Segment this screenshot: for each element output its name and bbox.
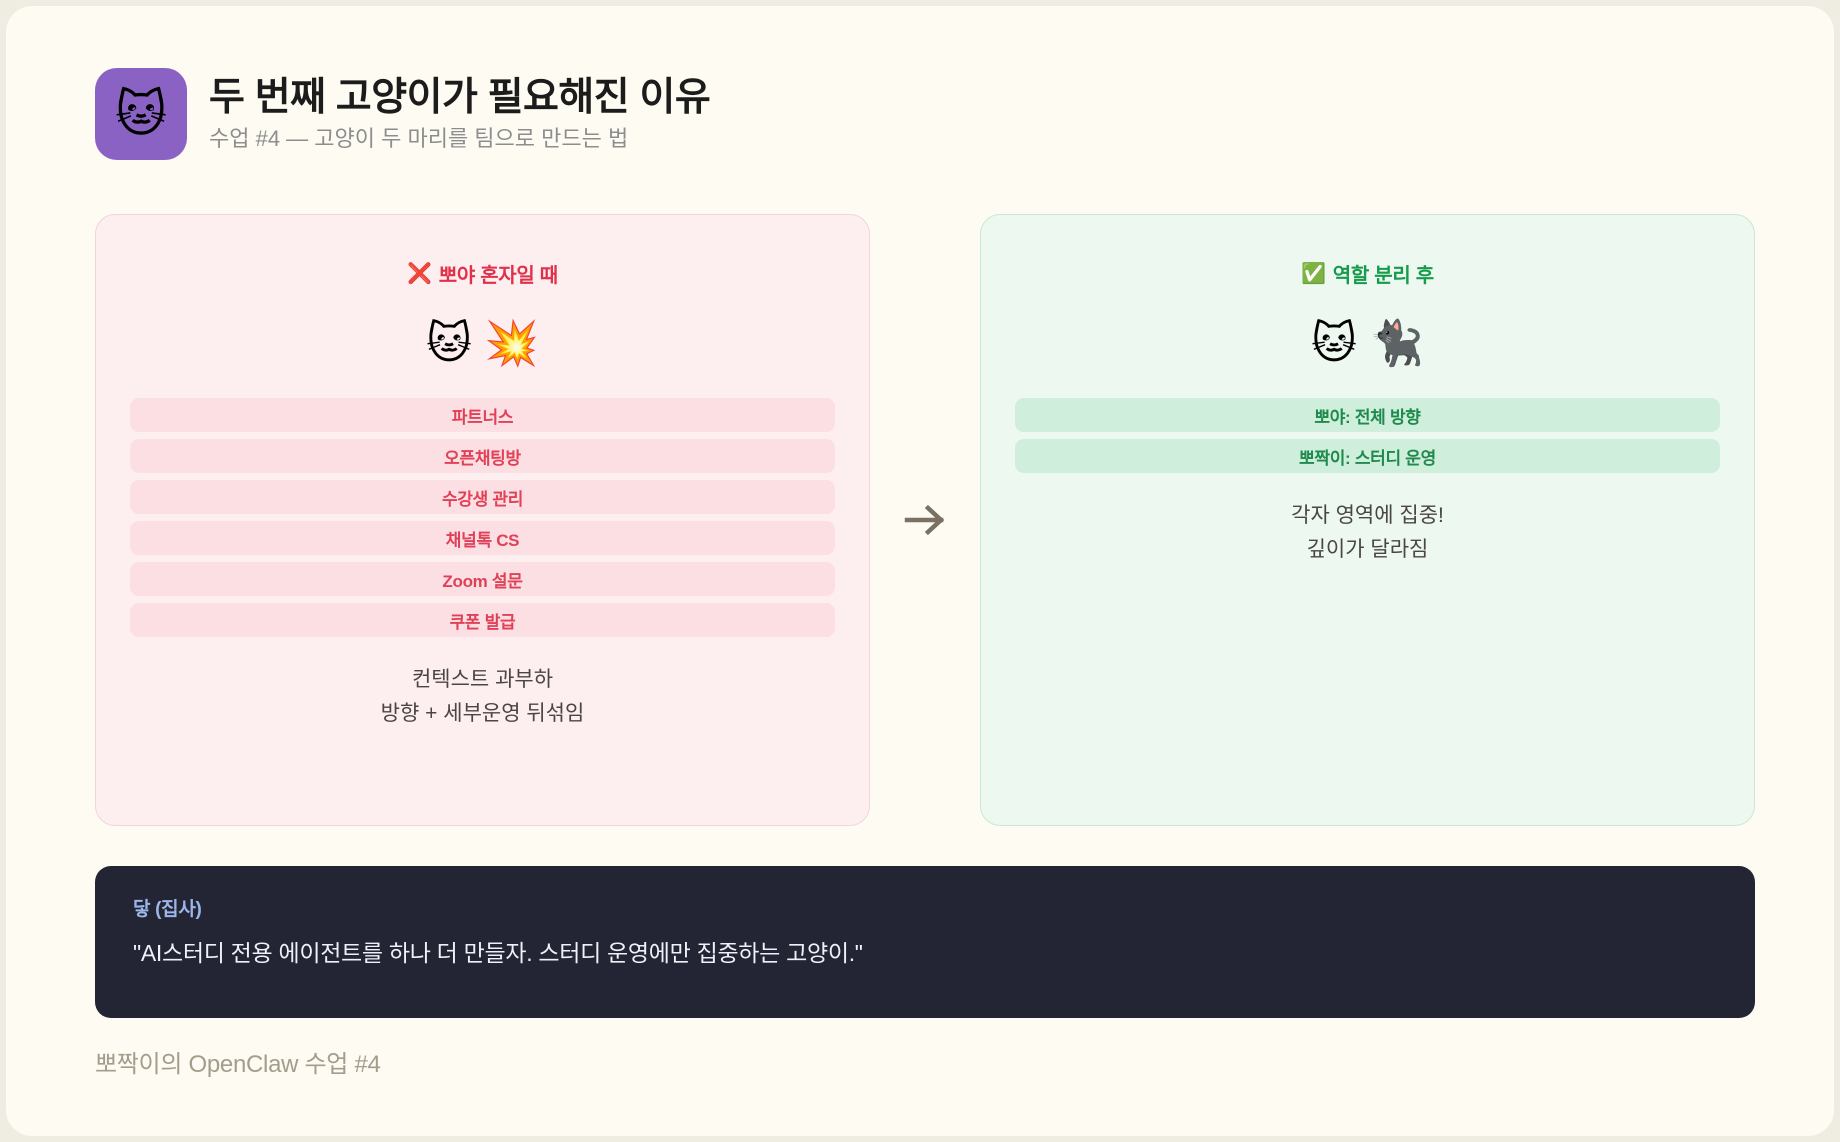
before-note-line-2: 방향 + 세부운영 뒤섞임	[381, 697, 585, 731]
list-item: 뽀짝이: 스터디 운영	[1015, 439, 1720, 473]
after-panel-note: 각자 영역에 집중! 깊이가 달라짐	[1291, 499, 1444, 567]
page-title: 두 번째 고양이가 필요해진 이유	[209, 76, 710, 120]
header-text-group: 두 번째 고양이가 필요해진 이유 수업 #4 — 고양이 두 마리를 팀으로 …	[209, 76, 710, 152]
after-emoji-row: 🐱 🐈‍⬛	[1311, 316, 1424, 372]
before-emoji-row: 🐱 💥	[426, 316, 539, 372]
after-panel-heading: ✅ 역할 분리 후	[1301, 259, 1434, 288]
slide-header: 🐱 두 번째 고양이가 필요해진 이유 수업 #4 — 고양이 두 마리를 팀으…	[95, 68, 710, 160]
slide-card: 🐱 두 번째 고양이가 필요해진 이유 수업 #4 — 고양이 두 마리를 팀으…	[6, 6, 1834, 1136]
black-cat-icon: 🐈‍⬛	[1369, 322, 1424, 366]
cross-mark-icon: ❌	[407, 264, 432, 284]
after-note-line-2: 깊이가 달라짐	[1291, 533, 1444, 567]
quote-text: "AI스터디 전용 에이전트를 하나 더 만들자. 스터디 운영에만 집중하는 …	[133, 937, 1717, 969]
after-heading-label: 역할 분리 후	[1333, 259, 1434, 288]
before-panel: ❌ 뽀야 혼자일 때 🐱 💥 파트너스 오픈채팅방 수강생 관리 채널톡 CS …	[95, 214, 870, 826]
quote-speaker: 닿 (집사)	[133, 894, 1717, 921]
after-note-line-1: 각자 영역에 집중!	[1291, 499, 1444, 533]
check-mark-icon: ✅	[1301, 264, 1326, 284]
list-item: 수강생 관리	[130, 480, 835, 514]
list-item: 뽀야: 전체 방향	[1015, 398, 1720, 432]
cat-face-icon: 🐱	[426, 322, 472, 366]
list-item: Zoom 설문	[130, 562, 835, 596]
comparison-row: ❌ 뽀야 혼자일 때 🐱 💥 파트너스 오픈채팅방 수강생 관리 채널톡 CS …	[95, 214, 1755, 826]
page-subtitle: 수업 #4 — 고양이 두 마리를 팀으로 만드는 법	[209, 126, 710, 152]
before-panel-heading: ❌ 뽀야 혼자일 때	[407, 259, 558, 288]
before-note-line-1: 컨텍스트 과부하	[381, 663, 585, 697]
after-panel: ✅ 역할 분리 후 🐱 🐈‍⬛ 뽀야: 전체 방향 뽀짝이: 스터디 운영 각자…	[980, 214, 1755, 826]
arrow-right-icon	[901, 501, 949, 539]
cat-face-icon: 🐱	[1311, 322, 1357, 366]
before-panel-note: 컨텍스트 과부하 방향 + 세부운영 뒤섞임	[381, 663, 585, 731]
list-item: 파트너스	[130, 398, 835, 432]
footer-caption: 뽀짝이의 OpenClaw 수업 #4	[95, 1044, 381, 1079]
before-heading-label: 뽀야 혼자일 때	[439, 259, 558, 288]
explosion-icon: 💥	[484, 322, 539, 366]
cat-avatar-icon: 🐱	[95, 68, 187, 160]
list-item: 채널톡 CS	[130, 521, 835, 555]
list-item: 쿠폰 발급	[130, 603, 835, 637]
before-task-list: 파트너스 오픈채팅방 수강생 관리 채널톡 CS Zoom 설문 쿠폰 발급	[130, 398, 835, 637]
after-role-list: 뽀야: 전체 방향 뽀짝이: 스터디 운영	[1015, 398, 1720, 473]
transition-arrow	[870, 214, 980, 826]
quote-box: 닿 (집사) "AI스터디 전용 에이전트를 하나 더 만들자. 스터디 운영에…	[95, 866, 1755, 1018]
list-item: 오픈채팅방	[130, 439, 835, 473]
